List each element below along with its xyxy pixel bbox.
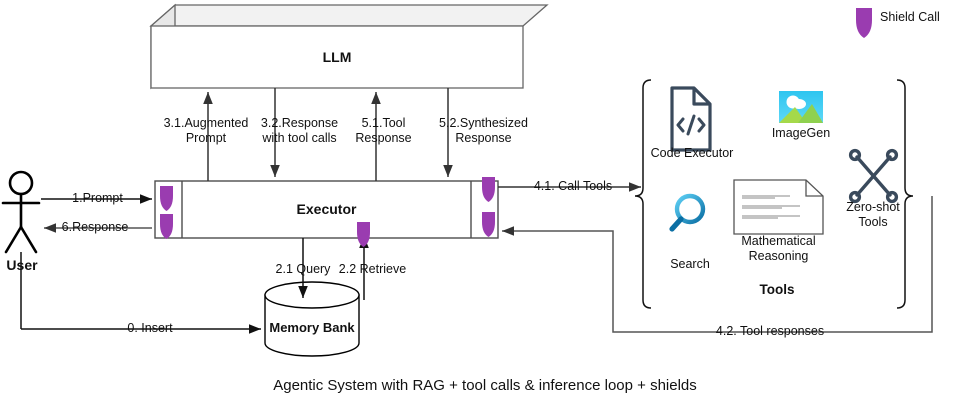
user-actor (3, 172, 39, 252)
memory-bank-label: Memory Bank (265, 320, 359, 335)
tools-group-label: Tools (727, 282, 827, 298)
tool-label-search: Search (662, 257, 718, 272)
edge-label-42-tool-responses: 4.2. Tool responses (660, 324, 880, 339)
crossed-wrenches-icon (851, 151, 897, 202)
tool-label-zero-shot-tools: Zero-shot Tools (838, 200, 908, 230)
edge-0-insert (21, 252, 261, 329)
edge-label-0-insert: 0. Insert (60, 321, 240, 336)
user-label: User (0, 257, 44, 274)
edge-label-22-retrieve: 2.2 Retrieve (325, 262, 420, 277)
tool-label-math-reasoning: Mathematical Reasoning (731, 234, 826, 264)
formula-document-icon (734, 180, 823, 234)
tool-label-imagegen: ImageGen (771, 126, 831, 141)
shield-icon-memory (357, 222, 370, 247)
code-document-icon (672, 88, 710, 150)
llm-node (151, 5, 547, 88)
memory-bank-node (265, 282, 359, 356)
llm-label: LLM (151, 49, 523, 66)
magnifier-icon (672, 196, 703, 229)
edge-label-51-tool-response: 5.1.Tool Response (336, 116, 431, 146)
tool-label-code-executor: Code Executor (646, 146, 738, 161)
legend-label: Shield Call (880, 10, 965, 25)
edge-label-1-prompt: 1.Prompt (45, 191, 150, 206)
shield-icon-legend (856, 8, 872, 38)
edge-label-6-response: 6.Response (40, 220, 150, 235)
edge-label-41-call-tools: 4.1. Call Tools (518, 179, 628, 194)
edge-label-52-synthesized-response: 5.2.Synthesized Response (421, 116, 546, 146)
executor-label: Executor (182, 201, 471, 218)
diagram-caption: Agentic System with RAG + tool calls & i… (0, 377, 970, 394)
photo-image-icon (779, 91, 823, 123)
